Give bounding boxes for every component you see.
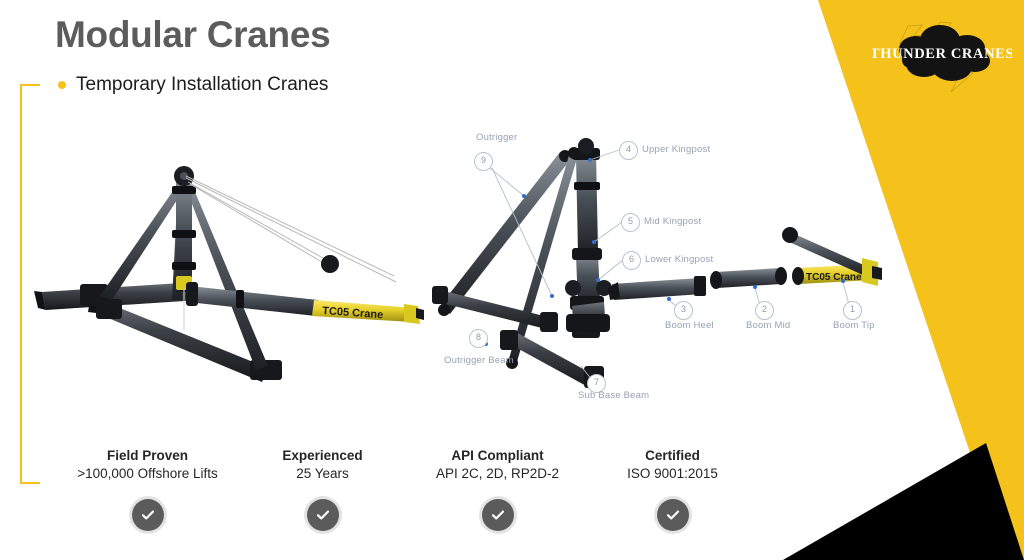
stat-title: API Compliant xyxy=(410,448,585,464)
slide-canvas: Modular Cranes Temporary Installation Cr… xyxy=(0,0,1024,560)
stat-title: Experienced xyxy=(235,448,410,464)
check-wrap xyxy=(410,499,585,531)
stat-field-proven: Field Proven >100,000 Offshore Lifts xyxy=(60,448,235,531)
stat-title: Field Proven xyxy=(60,448,235,464)
stat-subtitle: ISO 9001:2015 xyxy=(585,465,760,482)
check-wrap xyxy=(585,499,760,531)
stat-subtitle: API 2C, 2D, RP2D-2 xyxy=(410,465,585,482)
check-circle-icon xyxy=(132,499,164,531)
check-wrap xyxy=(60,499,235,531)
check-wrap xyxy=(235,499,410,531)
stat-api-compliant: API Compliant API 2C, 2D, RP2D-2 xyxy=(410,448,585,531)
check-circle-icon xyxy=(657,499,689,531)
check-circle-icon xyxy=(307,499,339,531)
assembled-crane-illustration: TC05 Crane xyxy=(34,166,424,382)
exploded-crane-decal: TC05 Crane xyxy=(806,272,862,283)
stat-experienced: Experienced 25 Years xyxy=(235,448,410,531)
check-circle-icon xyxy=(482,499,514,531)
stats-row: Field Proven >100,000 Offshore Lifts Exp… xyxy=(60,448,760,531)
stat-certified: Certified ISO 9001:2015 xyxy=(585,448,760,531)
stat-subtitle: >100,000 Offshore Lifts xyxy=(60,465,235,482)
stat-title: Certified xyxy=(585,448,760,464)
stat-subtitle: 25 Years xyxy=(235,465,410,482)
